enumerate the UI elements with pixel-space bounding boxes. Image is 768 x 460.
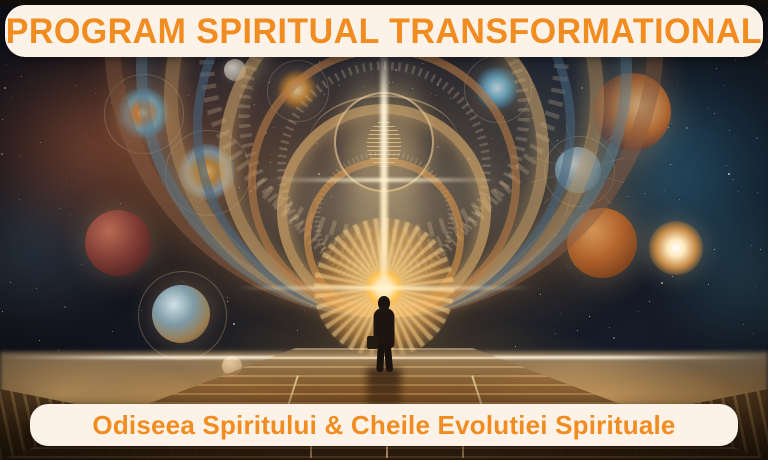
star — [81, 264, 82, 265]
footer-banner: Odiseea Spiritului & Cheile Evolutiei Sp… — [30, 404, 738, 446]
figure-briefcase — [367, 336, 378, 349]
star — [735, 60, 736, 61]
star — [729, 130, 730, 131]
star — [670, 164, 671, 165]
star — [649, 301, 650, 302]
star — [304, 310, 305, 311]
star — [756, 137, 758, 139]
star — [752, 333, 753, 334]
star — [4, 87, 6, 89]
star — [538, 288, 539, 289]
star — [733, 179, 734, 180]
star — [672, 276, 673, 277]
star — [2, 119, 3, 120]
star — [66, 179, 67, 180]
star — [613, 337, 615, 339]
star — [95, 93, 96, 94]
star — [1, 153, 3, 155]
star — [714, 249, 715, 250]
star — [227, 301, 228, 302]
star — [515, 346, 516, 347]
star — [29, 83, 30, 84]
subtitle: Odiseea Spiritului & Cheile Evolutiei Sp… — [92, 412, 675, 438]
star — [112, 331, 113, 332]
star — [757, 192, 758, 193]
star — [644, 193, 645, 194]
star — [671, 123, 672, 124]
poster-canvas: PROGRAM SPIRITUAL TRANSFORMATIONAL Odise… — [0, 0, 768, 460]
figure-leg-right — [384, 344, 393, 373]
star — [233, 323, 235, 325]
star — [661, 282, 663, 284]
star — [566, 265, 567, 266]
star — [751, 245, 752, 246]
star — [540, 294, 541, 295]
star — [760, 249, 761, 250]
walking-figure — [371, 296, 397, 372]
star — [716, 68, 717, 69]
star — [638, 311, 639, 312]
star — [714, 113, 715, 114]
star — [70, 214, 71, 215]
star — [120, 203, 121, 204]
star — [227, 297, 228, 298]
star — [64, 306, 66, 308]
star — [589, 316, 590, 317]
light-beam — [381, 40, 388, 340]
star — [724, 85, 725, 86]
star — [664, 190, 665, 191]
star — [708, 284, 709, 285]
star — [19, 199, 20, 200]
star — [577, 330, 578, 331]
star — [756, 286, 757, 287]
star — [738, 191, 739, 192]
star — [677, 83, 678, 84]
star — [743, 324, 744, 325]
star — [36, 288, 37, 289]
star — [679, 199, 680, 200]
star — [726, 165, 727, 166]
star — [297, 330, 298, 331]
star — [686, 127, 688, 129]
lens-flare-lower — [234, 286, 534, 290]
celestial-red-planet-left — [85, 210, 151, 276]
star — [19, 155, 20, 156]
star — [21, 76, 22, 77]
star — [627, 196, 628, 197]
star — [10, 282, 11, 283]
star — [40, 142, 41, 143]
star — [560, 313, 561, 314]
celestial-spiral-galaxy — [649, 221, 703, 275]
star — [609, 327, 610, 328]
star — [6, 64, 7, 65]
star — [341, 345, 342, 346]
header-banner: PROGRAM SPIRITUAL TRANSFORMATIONAL — [5, 5, 763, 57]
star — [59, 208, 60, 209]
star — [707, 108, 708, 109]
page-title: PROGRAM SPIRITUAL TRANSFORMATIONAL — [6, 14, 762, 49]
star — [39, 340, 40, 341]
star — [2, 311, 3, 312]
star — [76, 85, 77, 86]
lens-flare-upper — [269, 178, 499, 182]
star — [11, 97, 12, 98]
orbit-ring-blue-earth-orb — [138, 271, 227, 360]
star — [58, 350, 59, 351]
star — [728, 173, 730, 175]
star — [555, 333, 556, 334]
